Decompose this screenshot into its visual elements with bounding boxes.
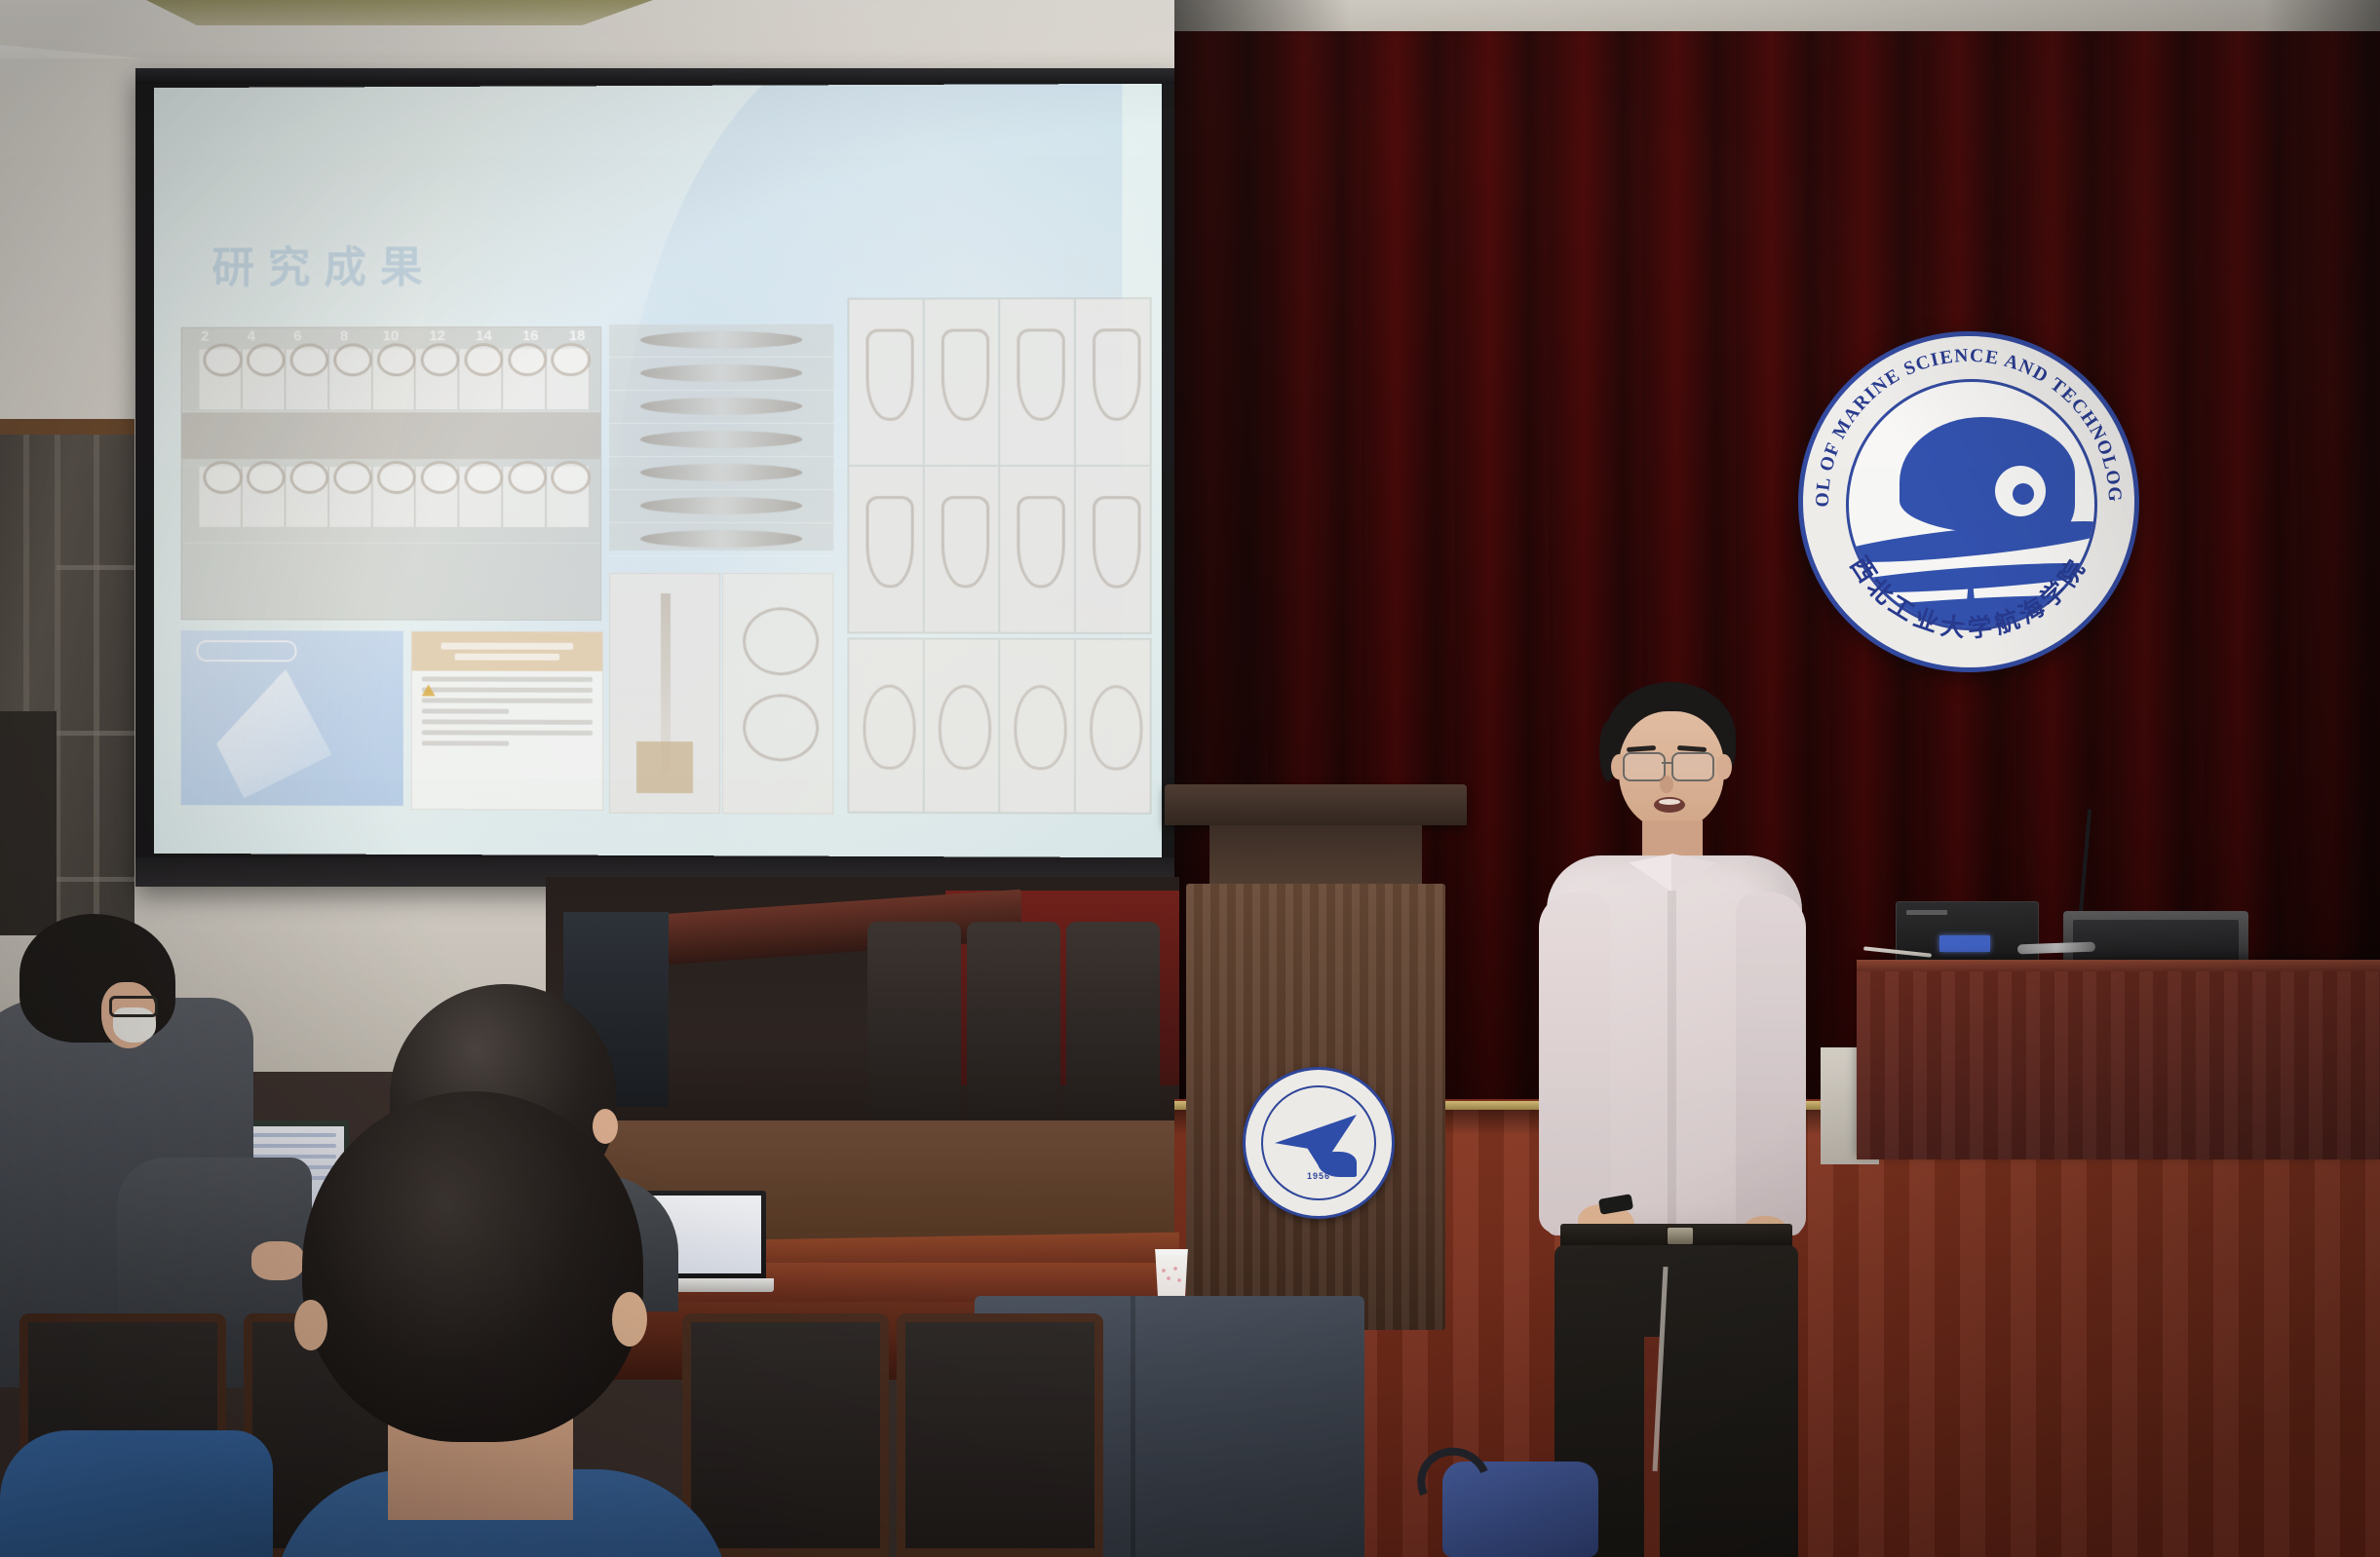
sequence-row: 2 4 6 8 10 12 14 16 18 — [182, 327, 600, 412]
sequence-cell — [373, 349, 416, 409]
grille-crossbar — [57, 565, 134, 570]
auditorium-chair[interactable] — [897, 1313, 1103, 1557]
slide-cavity-photo-grid — [847, 297, 1151, 634]
sequence-cells — [199, 349, 591, 409]
droplet-frame — [609, 358, 833, 391]
droplet-frame — [609, 490, 833, 523]
amplifier-logo — [1906, 910, 1947, 915]
sequence-cell — [243, 350, 286, 410]
sequence-row — [182, 459, 600, 544]
cup-rim — [1152, 1249, 1191, 1255]
belt-buckle — [1668, 1228, 1693, 1244]
warning-triangle-icon — [422, 684, 436, 696]
sequence-cell — [199, 350, 241, 410]
cup-floral-pattern — [1158, 1265, 1185, 1288]
apparatus-ring — [743, 694, 819, 762]
shirt-placket — [1668, 891, 1676, 1232]
sequence-cell — [416, 349, 459, 409]
sequence-cell — [329, 349, 372, 409]
photo-caption-box — [196, 640, 296, 662]
sequence-cell — [243, 467, 286, 527]
blue-seat-back — [0, 1430, 273, 1557]
droplet-frame — [609, 391, 833, 424]
audience-member-laptop-user — [0, 914, 341, 1382]
amplifier-display — [1939, 935, 1990, 952]
grille-crossbar — [57, 877, 134, 882]
journal-text-line — [422, 676, 593, 681]
projected-slide: 研究成果 2 4 6 8 10 12 14 16 18 — [154, 84, 1162, 857]
slide-sequence-table: 2 4 6 8 10 12 14 16 18 — [181, 326, 601, 621]
slide-cavity-photo-row — [847, 637, 1151, 815]
presenter-arm — [1539, 892, 1611, 1234]
emblem-chinese-ring-text: 西北工业大学航海学院 — [1803, 336, 2134, 667]
droplet-frame — [609, 424, 833, 457]
sequence-cell — [286, 349, 328, 409]
photo-cell — [1076, 467, 1150, 632]
sequence-cell — [460, 467, 503, 527]
slide-apparatus-schematic — [609, 573, 720, 814]
glasses-bridge — [1662, 762, 1673, 764]
journal-text-line — [422, 687, 593, 692]
audience-member-foreground — [302, 1091, 711, 1557]
photo-cell — [1000, 467, 1074, 632]
slide-droplet-strip — [609, 324, 833, 551]
sequence-cell — [199, 467, 241, 527]
grille-crossbar — [57, 731, 134, 736]
photo-cell — [1076, 299, 1150, 465]
journal-title-line — [441, 643, 573, 650]
journal-title-bar — [412, 632, 602, 671]
presenter-nose — [1660, 776, 1673, 793]
sequence-cell — [504, 467, 547, 527]
sequence-cell — [373, 467, 416, 527]
slide-apparatus-schematic-2 — [722, 573, 833, 815]
sequence-cells — [199, 467, 591, 527]
sequence-row-gap — [182, 412, 600, 459]
journal-text-line — [422, 708, 510, 713]
droplet-frame — [609, 523, 833, 556]
audience-hair — [302, 1091, 643, 1442]
blue-bag[interactable] — [1442, 1462, 1598, 1557]
lecture-hall-photo: 研究成果 2 4 6 8 10 12 14 16 18 — [0, 0, 2380, 1557]
photo-cell — [925, 299, 998, 465]
photo-cell — [849, 639, 922, 812]
sequence-cell — [416, 467, 459, 527]
presenter-ear — [1716, 754, 1732, 779]
av-table-top — [1857, 960, 2380, 971]
journal-text-line — [422, 730, 593, 735]
photo-cell — [849, 299, 922, 465]
presenter-arm — [1736, 892, 1806, 1235]
apparatus-block — [636, 741, 693, 793]
lectern-neck — [1209, 825, 1422, 884]
photo-cell — [1000, 299, 1074, 465]
stacked-chair — [1066, 922, 1160, 1117]
sequence-cell — [286, 467, 328, 527]
av-table — [1857, 960, 2380, 1159]
slide-underwater-photo — [181, 630, 403, 806]
audience-arm — [117, 1158, 312, 1323]
audience-ear — [612, 1292, 647, 1347]
school-emblem: SCHOOL OF MARINE SCIENCE AND TECHNOLOGY … — [1798, 331, 2139, 672]
apparatus-ring — [743, 607, 819, 675]
svg-text:西北工业大学航海学院: 西北工业大学航海学院 — [1845, 551, 2092, 643]
sequence-cell — [329, 467, 372, 527]
journal-text-line — [422, 698, 593, 703]
audience-glasses — [109, 996, 158, 1017]
lectern-emblem: 1956 — [1243, 1067, 1395, 1219]
lectern-emblem-year: 1956 — [1246, 1171, 1392, 1181]
grille-bar — [94, 435, 99, 935]
slide-title: 研究成果 — [211, 233, 436, 295]
photo-cell — [925, 467, 998, 632]
sequence-cell — [547, 349, 590, 409]
above-curtain-wall — [1174, 0, 2380, 31]
sequence-cell — [460, 349, 503, 409]
monitor-screen — [2073, 920, 2239, 963]
grille-shadow — [0, 711, 57, 935]
auditorium-chair[interactable] — [682, 1313, 889, 1557]
audience-hand — [251, 1241, 304, 1280]
screen-top-rail — [135, 68, 1176, 84]
lectern-top — [1165, 784, 1467, 825]
glasses-lens — [1623, 752, 1666, 781]
lectern: 1956 — [1165, 784, 1467, 1330]
slide-journal-page — [411, 631, 603, 811]
sequence-cell — [547, 467, 590, 527]
journal-text-line — [422, 741, 510, 745]
glasses-lens — [1671, 752, 1714, 781]
photo-cell — [1000, 640, 1074, 813]
window-grille — [0, 419, 134, 935]
photo-cell — [1076, 640, 1150, 813]
droplet-frame — [609, 324, 833, 358]
journal-title-line — [454, 654, 559, 661]
photo-cell — [925, 640, 998, 813]
droplet-frame — [609, 457, 833, 490]
presenter-mouth — [1654, 797, 1685, 813]
photo-cell — [849, 467, 922, 631]
sequence-cell — [504, 349, 547, 409]
audience-ear — [294, 1300, 327, 1350]
grille-top-trim — [0, 419, 134, 435]
stacked-chair — [967, 922, 1060, 1117]
presenter — [1506, 682, 1837, 1557]
ceiling-beam — [146, 0, 653, 25]
journal-text-line — [422, 719, 593, 724]
stacked-chair — [867, 922, 961, 1117]
